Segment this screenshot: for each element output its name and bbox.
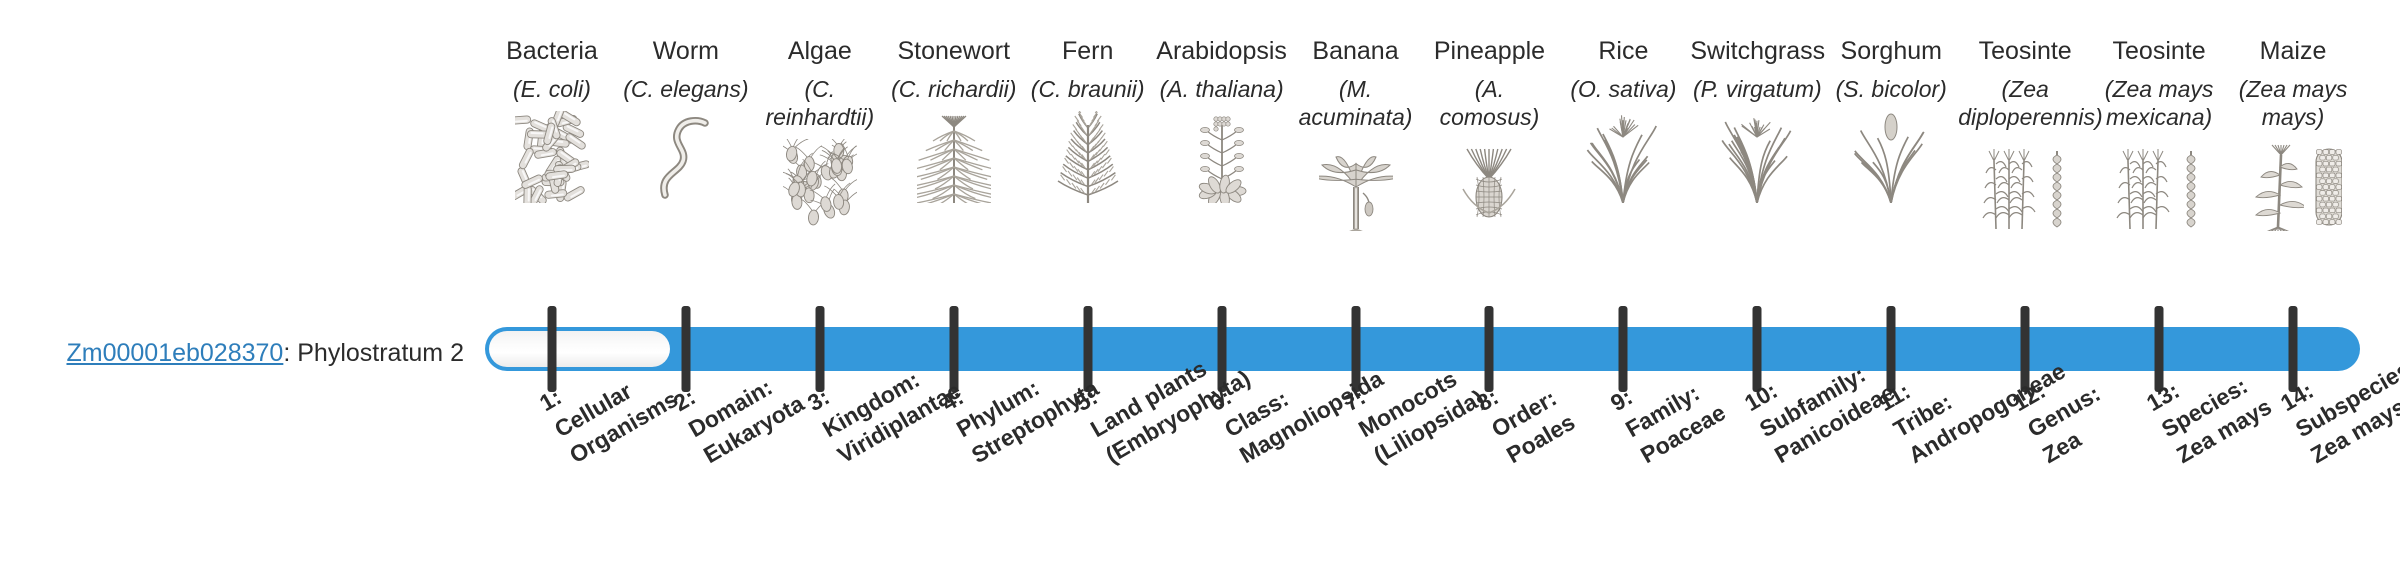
species-common-name: Arabidopsis <box>1155 36 1289 66</box>
species-column: Fern(C. braunii) <box>1021 36 1155 203</box>
maize-plant-icon <box>2226 135 2360 231</box>
species-common-name: Bacteria <box>485 36 619 66</box>
teosinte-mexicana-icon <box>2092 135 2226 231</box>
species-common-name: Stonewort <box>887 36 1021 66</box>
species-column: Switchgrass(P. virgatum) <box>1690 36 1824 203</box>
species-scientific-name: (C. reinhardtii) <box>753 75 887 131</box>
species-common-name: Algae <box>753 36 887 66</box>
gene-phylostratum-label: Zm00001eb028370: Phylostratum 2 <box>44 338 464 368</box>
species-common-name: Sorghum <box>1824 36 1958 66</box>
rice-plant-icon <box>1556 107 1690 203</box>
species-scientific-name: (O. sativa) <box>1556 75 1690 103</box>
species-column: Pineapple(A. comosus) <box>1423 36 1557 231</box>
species-column: Sorghum(S. bicolor) <box>1824 36 1958 203</box>
fern-frond-icon <box>1021 107 1155 203</box>
species-column: Banana(M. acuminata) <box>1289 36 1423 231</box>
species-column: Arabidopsis(A. thaliana) <box>1155 36 1289 203</box>
species-scientific-name: (Zea mays mays) <box>2226 75 2360 131</box>
species-common-name: Pineapple <box>1423 36 1557 66</box>
taxonomy-rank-label-row: 1: Cellular Organisms2: Domain: Eukaryot… <box>485 392 2360 580</box>
species-common-name: Worm <box>619 36 753 66</box>
gene-label-separator: : <box>283 339 297 367</box>
species-column: Teosinte(Zea mays mexicana) <box>2092 36 2226 231</box>
species-scientific-name: (C. elegans) <box>619 75 753 103</box>
species-column: Maize(Zea mays mays) <box>2226 36 2360 231</box>
species-common-name: Teosinte <box>1958 36 2092 66</box>
species-column: Rice(O. sativa) <box>1556 36 1690 203</box>
pineapple-icon <box>1423 135 1557 231</box>
species-scientific-name: (A. comosus) <box>1423 75 1557 131</box>
nematode-worm-icon <box>619 107 753 203</box>
species-column: Teosinte(Zea diploperennis) <box>1958 36 2092 231</box>
species-scientific-name: (E. coli) <box>485 75 619 103</box>
species-scientific-name: (P. virgatum) <box>1690 75 1824 103</box>
species-column: Bacteria(E. coli) <box>485 36 619 203</box>
species-scientific-name: (C. braunii) <box>1021 75 1155 103</box>
species-common-name: Banana <box>1289 36 1423 66</box>
stonewort-icon <box>887 107 1021 203</box>
sorghum-plant-icon <box>1824 107 1958 203</box>
species-common-name: Switchgrass <box>1690 36 1824 66</box>
species-scientific-name: (A. thaliana) <box>1155 75 1289 103</box>
species-scientific-name: (C. richardii) <box>887 75 1021 103</box>
species-column: Algae(C. reinhardtii) <box>753 36 887 231</box>
species-scientific-name: (Zea mays mexicana) <box>2092 75 2226 131</box>
teosinte-diploperennis-icon <box>1958 135 2092 231</box>
arabidopsis-rosette-icon <box>1155 107 1289 203</box>
ecoli-rods-icon <box>485 107 619 203</box>
species-column: Worm(C. elegans) <box>619 36 753 203</box>
species-scientific-name: (Zea diploperennis) <box>1958 75 2092 131</box>
species-common-name: Maize <box>2226 36 2360 66</box>
species-scientific-name: (S. bicolor) <box>1824 75 1958 103</box>
gene-id-link[interactable]: Zm00001eb028370 <box>66 339 283 367</box>
switchgrass-icon <box>1690 107 1824 203</box>
species-common-name: Teosinte <box>2092 36 2226 66</box>
species-header-row: Bacteria(E. coli)Worm(C. elegans)Algae(C… <box>485 36 2360 306</box>
species-common-name: Fern <box>1021 36 1155 66</box>
phylostratum-value-text: Phylostratum 2 <box>297 339 464 367</box>
species-common-name: Rice <box>1556 36 1690 66</box>
species-scientific-name: (M. acuminata) <box>1289 75 1423 131</box>
chlamydomonas-cells-icon <box>753 135 887 231</box>
species-column: Stonewort(C. richardii) <box>887 36 1021 203</box>
banana-plant-icon <box>1289 135 1423 231</box>
